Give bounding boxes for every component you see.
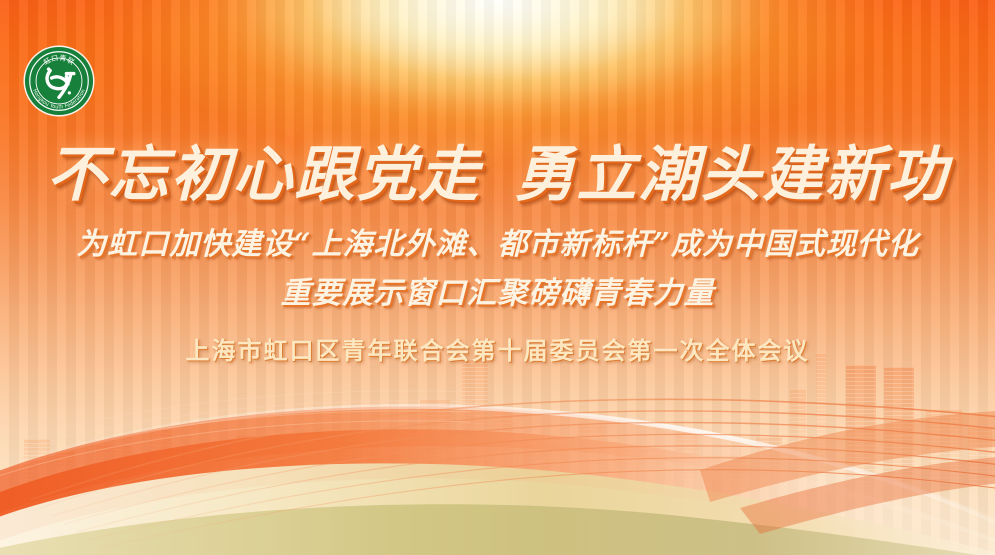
skyline-building bbox=[816, 353, 826, 485]
skyline-building bbox=[96, 445, 130, 485]
poster-main-title: 不忘初心跟党走勇立潮头建新功 bbox=[0, 126, 995, 213]
sun-core-highlight bbox=[188, 0, 808, 130]
skyline-building bbox=[884, 367, 914, 485]
skyline-building bbox=[266, 451, 312, 485]
skyline-building bbox=[462, 359, 488, 485]
main-title-left-half: 不忘初心跟党走 bbox=[47, 140, 481, 210]
skyline-building bbox=[366, 453, 404, 485]
poster-subtitle-line-1: 为虹口加快建设“上海北外滩、都市新标杆”成为中国式现代化 bbox=[0, 219, 995, 263]
skyline-building bbox=[926, 409, 962, 485]
poster-meeting-title: 上海市虹口区青年联合会第十届委员会第一次全体会议 bbox=[0, 331, 995, 366]
skyline-building bbox=[614, 449, 666, 485]
skyline-building bbox=[236, 435, 256, 485]
skyline-building bbox=[524, 445, 568, 485]
skyline-building bbox=[756, 437, 782, 485]
poster-subtitle-line-2: 重要展示窗口汇聚磅礴青春力量 bbox=[0, 268, 995, 312]
skyline-building bbox=[150, 429, 172, 485]
hongkou-youth-federation-logo: 虹口青联 Hongkou Youth Federation bbox=[22, 44, 96, 118]
skyline-building bbox=[182, 449, 222, 485]
skyline-building bbox=[706, 455, 746, 485]
skyline-building bbox=[494, 411, 512, 485]
skyline-building bbox=[578, 425, 606, 485]
skyline-building bbox=[676, 431, 698, 485]
skyline-building bbox=[330, 441, 354, 485]
skyline-building bbox=[420, 399, 450, 485]
skyline-building bbox=[56, 451, 74, 485]
main-title-right-half: 勇立潮头建新功 bbox=[515, 140, 949, 210]
skyline-building bbox=[968, 427, 992, 485]
skyline-building bbox=[790, 389, 806, 485]
skyline-building bbox=[24, 439, 50, 485]
skyline-building bbox=[846, 365, 876, 485]
poster-canvas: 虹口青联 Hongkou Youth Federation 不忘初心跟党走勇立潮… bbox=[0, 0, 995, 555]
